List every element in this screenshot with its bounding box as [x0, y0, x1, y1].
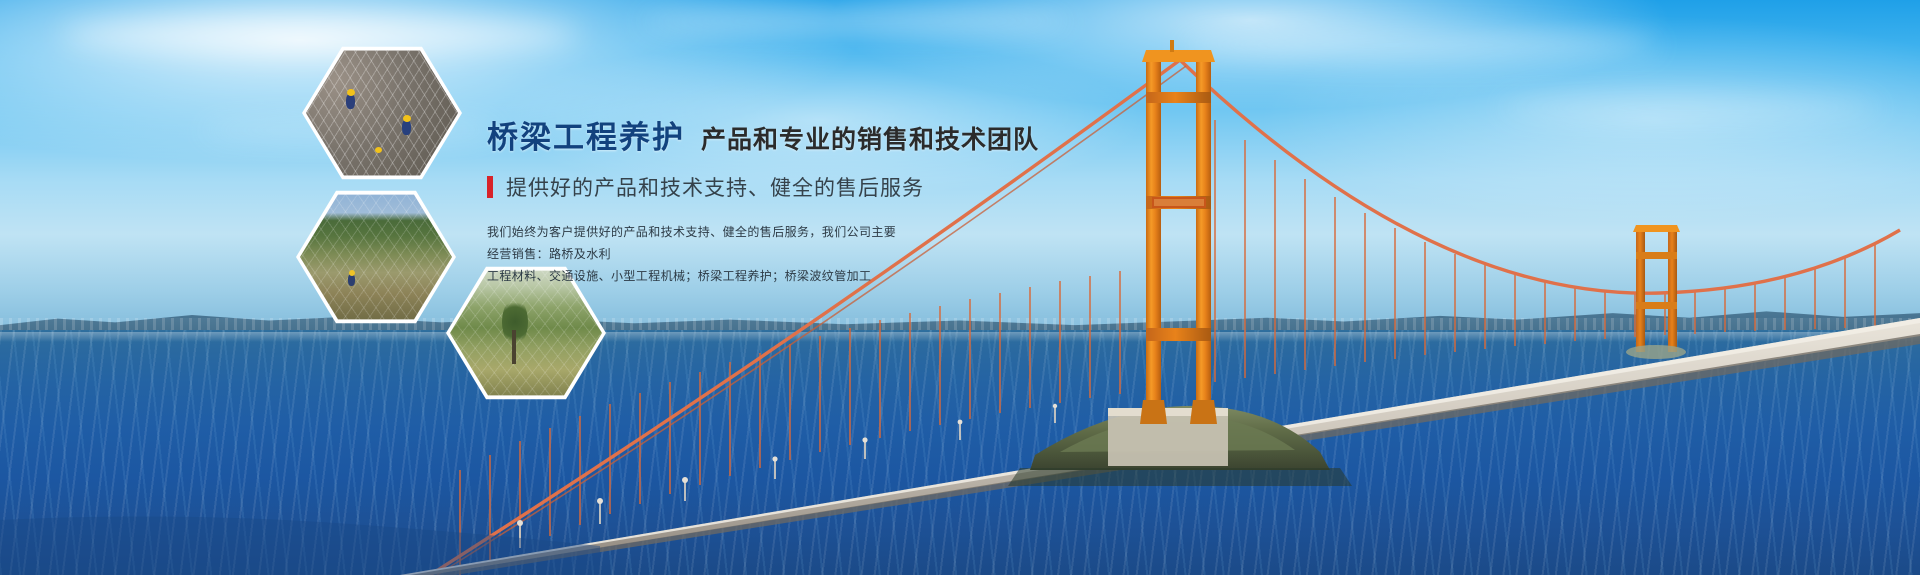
bridge-tower-far	[1633, 225, 1680, 352]
hex-photo-1[interactable]	[302, 44, 462, 182]
worker-helmet	[403, 115, 411, 122]
worker-helmet	[349, 270, 355, 276]
headline-primary: 桥梁工程养护	[487, 122, 685, 155]
headline-secondary: 产品和专业的销售和技术团队	[701, 127, 1039, 153]
hex-photo-2[interactable]	[296, 188, 456, 326]
rock-slope-netting-workers-image	[306, 48, 458, 178]
description-line-2: 工程材料、交通设施、小型工程机械；桥梁工程养护；桥梁波纹管加工	[487, 265, 907, 287]
banner-headline: 桥梁工程养护 产品和专业的销售和技术团队	[487, 122, 1127, 155]
banner-description: 我们始终为客户提供好的产品和技术支持、健全的售后服务，我们公司主要经营销售：路桥…	[487, 221, 907, 288]
subheadline-text: 提供好的产品和技术支持、健全的售后服务	[506, 172, 924, 202]
bridge-tower-main	[1140, 40, 1217, 424]
suspension-bridge-illustration	[0, 0, 1920, 575]
worker-helmet	[375, 147, 382, 153]
shrub-trunk	[512, 330, 516, 364]
worker-figure	[402, 120, 411, 135]
banner-subheadline: 提供好的产品和技术支持、健全的售后服务	[487, 172, 1127, 202]
description-line-1: 我们始终为客户提供好的产品和技术支持、健全的售后服务，我们公司主要经营销售：路桥…	[487, 221, 907, 265]
red-accent-bar	[487, 176, 493, 198]
worker-figure	[346, 94, 355, 109]
hillside-slope-protection-image	[300, 192, 452, 322]
hero-banner: 桥梁工程养护 产品和专业的销售和技术团队 提供好的产品和技术支持、健全的售后服务…	[0, 0, 1920, 575]
banner-text-block: 桥梁工程养护 产品和专业的销售和技术团队 提供好的产品和技术支持、健全的售后服务…	[487, 122, 1127, 287]
worker-helmet	[347, 89, 355, 96]
